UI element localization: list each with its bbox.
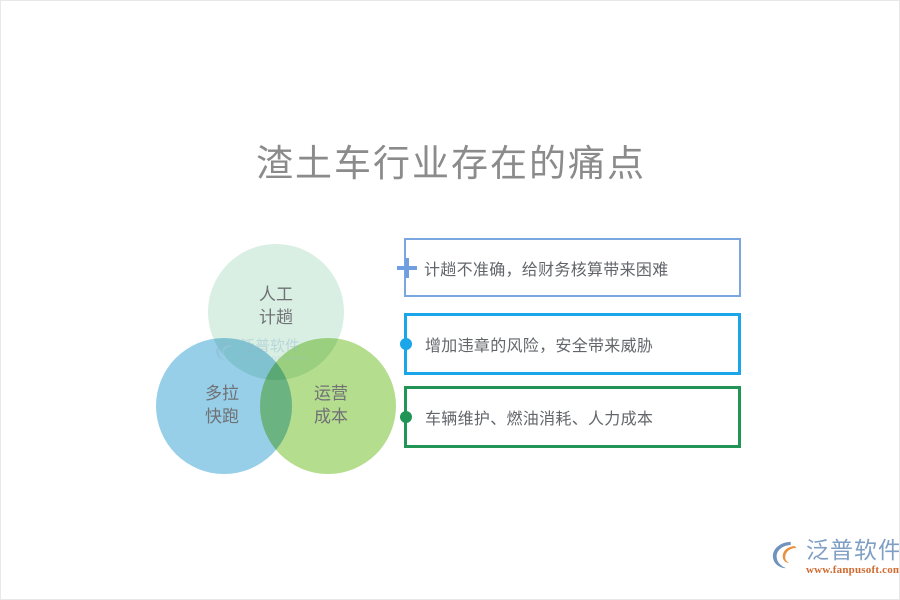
- page-title: 渣土车行业存在的痛点: [1, 133, 900, 187]
- pain-point-text: 车辆维护、燃油消耗、人力成本: [407, 405, 653, 429]
- pain-point-box-3[interactable]: 车辆维护、燃油消耗、人力成本: [404, 386, 741, 448]
- venn-circle-operating-cost: 运营 成本: [260, 338, 396, 474]
- venn-circle-label-line2: 计趟: [259, 307, 293, 330]
- venn-circle-label-line1: 人工: [259, 284, 293, 307]
- venn-circle-label: 运营 成本: [314, 383, 348, 429]
- brand-url: www.fanpusoft.com: [806, 565, 900, 576]
- pain-point-text: 计趟不准确，给财务核算带来困难: [406, 256, 669, 280]
- brand-name: 泛普软件: [806, 539, 900, 562]
- dot-marker-icon: [400, 338, 412, 350]
- fanpu-brand-icon: [771, 540, 801, 570]
- slide-canvas: 渣土车行业存在的痛点 人工 计趟 多拉 快跑 运营 成本: [0, 0, 900, 600]
- pain-point-text: 增加违章的风险，安全带来威胁: [407, 332, 653, 356]
- venn-circle-label-line1: 多拉: [205, 383, 239, 406]
- venn-circle-label-line2: 快跑: [205, 406, 239, 429]
- venn-circle-label-line2: 成本: [314, 406, 348, 429]
- brand-text: 泛普软件 www.fanpusoft.com: [806, 539, 900, 576]
- pain-point-box-1[interactable]: 计趟不准确，给财务核算带来困难: [404, 238, 741, 297]
- venn-diagram: 人工 计趟 多拉 快跑 运营 成本: [156, 244, 406, 474]
- dot-marker-icon: [400, 411, 412, 423]
- venn-circle-label-line1: 运营: [314, 383, 348, 406]
- venn-circle-label: 多拉 快跑: [205, 383, 239, 429]
- cross-marker-icon: [397, 258, 417, 278]
- venn-circle-label: 人工 计趟: [259, 284, 293, 330]
- pain-point-box-2[interactable]: 增加违章的风险，安全带来威胁: [404, 313, 741, 375]
- brand-logo: 泛普软件 www.fanpusoft.com: [771, 539, 900, 576]
